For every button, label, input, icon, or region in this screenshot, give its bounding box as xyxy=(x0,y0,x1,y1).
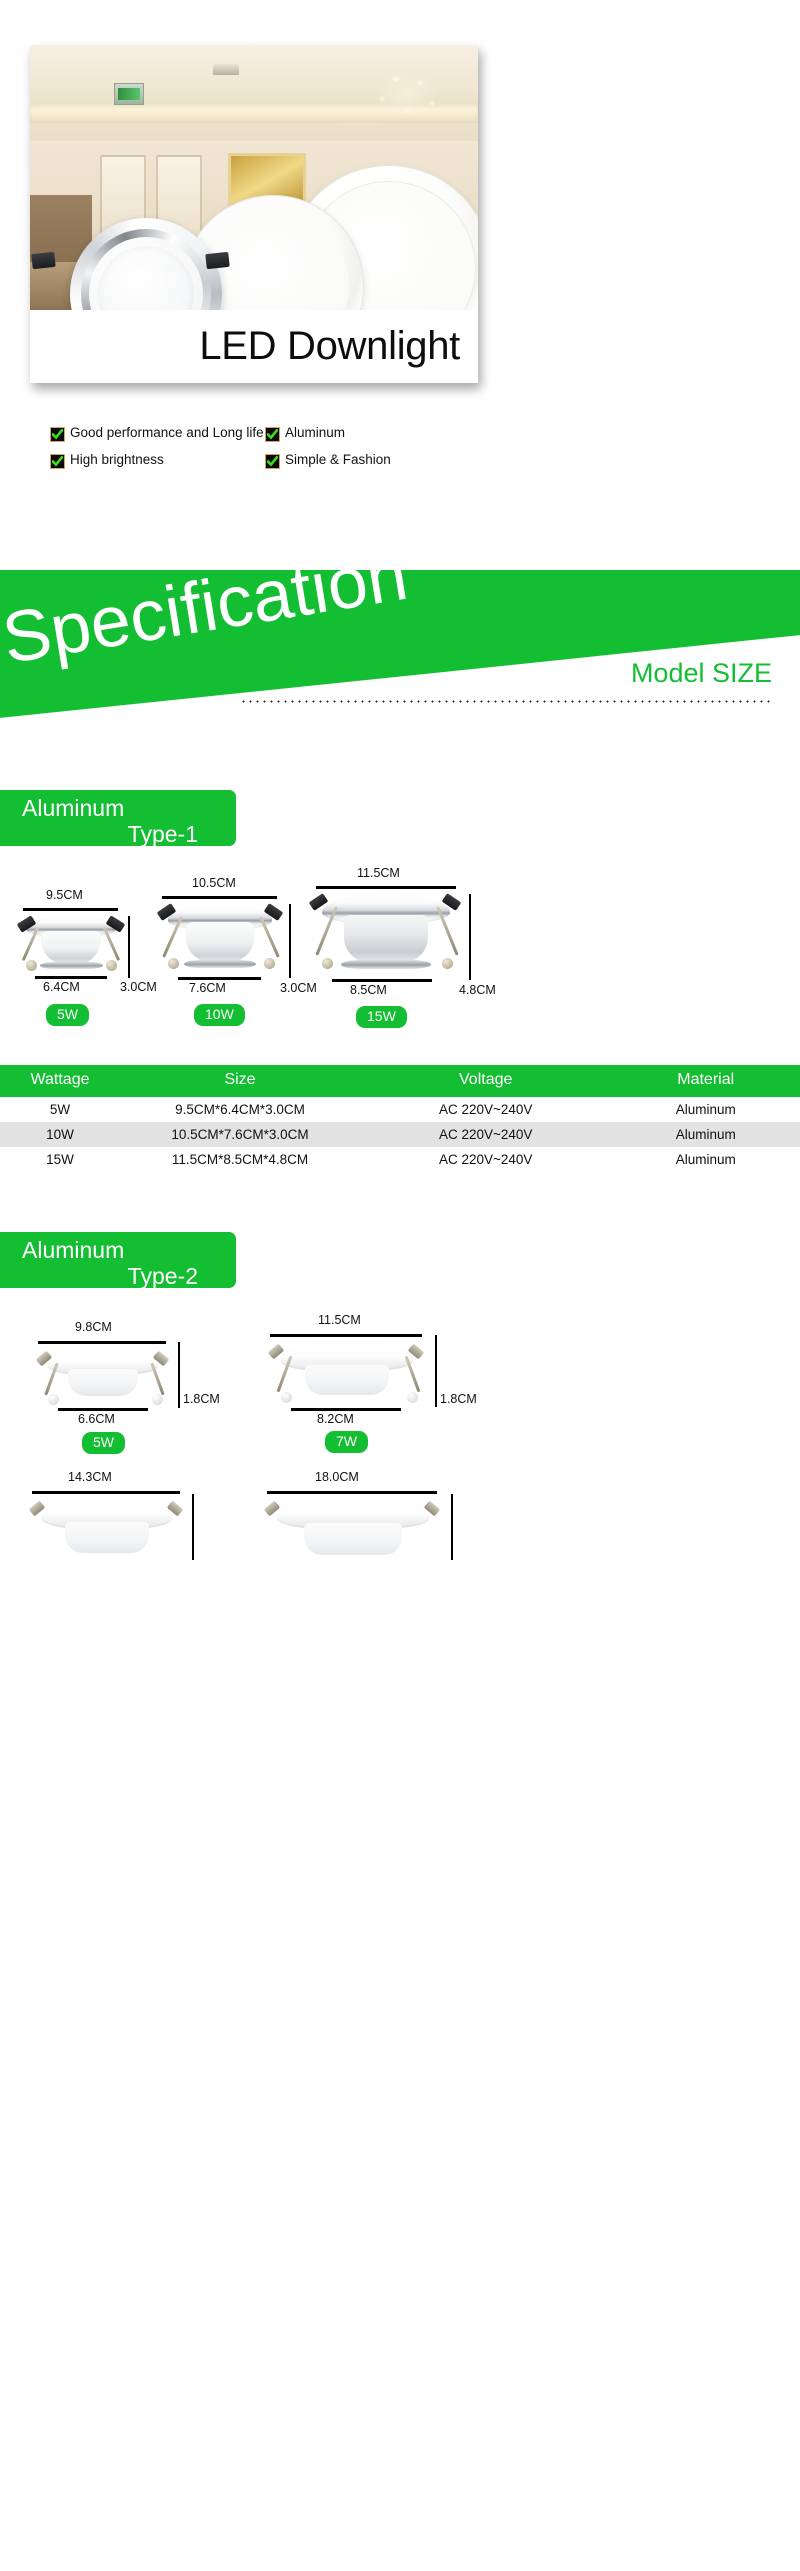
table-header-row: Wattage Size Voltage Material xyxy=(0,1065,800,1097)
dim-width-label: 14.3CM xyxy=(68,1470,112,1484)
type1-diagram-5w: 9.5CM 6.4CM 3.0CM 5W xyxy=(8,888,148,1038)
dim-height-label: 1.8CM xyxy=(440,1392,477,1406)
chrome-lip xyxy=(184,960,257,968)
downlight-drawing xyxy=(168,904,272,974)
wattage-badge: 15W xyxy=(356,1006,407,1028)
cell-size: 10.5CM*7.6CM*3.0CM xyxy=(120,1122,360,1147)
table-row: 10W 10.5CM*7.6CM*3.0CM AC 220V~240V Alum… xyxy=(0,1122,800,1147)
dim-width-label: 9.5CM xyxy=(46,888,83,902)
dim-depth-line xyxy=(178,977,261,980)
spring-clip-icon xyxy=(31,252,55,269)
feature-label: Simple & Fashion xyxy=(285,452,391,468)
cell-material: Aluminum xyxy=(611,1122,800,1147)
dim-width-label: 9.8CM xyxy=(75,1320,112,1334)
cell-voltage: AC 220V~240V xyxy=(360,1122,611,1147)
badge-line-1: Aluminum xyxy=(22,1237,226,1263)
spring-clip-icon xyxy=(205,252,229,269)
exit-sign-icon xyxy=(114,83,144,105)
dim-width-label: 11.5CM xyxy=(357,866,400,880)
chandelier-icon xyxy=(362,59,452,143)
hero-banner: LED Downlight xyxy=(30,45,478,383)
dim-width-line xyxy=(162,896,277,899)
dim-depth-line xyxy=(291,1408,401,1411)
dim-height-line xyxy=(178,1342,180,1408)
feature-item: High brightness xyxy=(50,452,265,469)
dim-width-line xyxy=(267,1491,437,1494)
dim-width-label: 11.5CM xyxy=(318,1313,361,1327)
chrome-lip xyxy=(341,960,431,970)
cell-material: Aluminum xyxy=(611,1097,800,1122)
dim-height-line xyxy=(451,1494,453,1560)
dim-depth-label: 7.6CM xyxy=(189,981,226,995)
dim-width-line xyxy=(316,886,456,889)
feature-list: Good performance and Long life Aluminum … xyxy=(50,425,470,469)
downlight-slim-drawing xyxy=(48,1350,158,1404)
chrome-lip xyxy=(40,962,103,969)
housing-base xyxy=(305,1365,389,1395)
badge-line-2: Type-1 xyxy=(22,821,226,847)
dim-depth-line xyxy=(58,1408,148,1411)
cell-size: 11.5CM*8.5CM*4.8CM xyxy=(120,1147,360,1172)
dim-width-line xyxy=(32,1491,180,1494)
feature-label: High brightness xyxy=(70,452,164,468)
hero-title-bar: LED Downlight xyxy=(30,310,478,383)
housing-body xyxy=(344,915,428,963)
spring-pivot xyxy=(106,960,117,971)
type1-diagram-15w: 11.5CM 8.5CM 4.8CM 15W xyxy=(302,866,482,1041)
table-row: 5W 9.5CM*6.4CM*3.0CM AC 220V~240V Alumin… xyxy=(0,1097,800,1122)
housing-base xyxy=(68,1369,138,1396)
wattage-badge: 5W xyxy=(46,1004,89,1026)
housing-base xyxy=(65,1522,148,1553)
check-icon xyxy=(265,427,280,442)
housing-body xyxy=(41,931,100,965)
badge-line-2: Type-2 xyxy=(22,1263,226,1289)
table-row: 15W 11.5CM*8.5CM*4.8CM AC 220V~240V Alum… xyxy=(0,1147,800,1172)
spring-pivot xyxy=(152,1394,163,1405)
type1-diagram-10w: 10.5CM 7.6CM 3.0CM 10W xyxy=(152,876,312,1038)
dim-width-line xyxy=(38,1341,166,1344)
dotted-divider xyxy=(240,700,770,703)
dim-depth-line xyxy=(35,976,107,979)
column-header-voltage: Voltage xyxy=(360,1065,611,1097)
spring-pivot xyxy=(168,958,179,969)
type2-diagram-row2-right: 18.0CM xyxy=(255,1470,485,1575)
spring-pivot xyxy=(407,1392,418,1403)
downlight-slim-drawing xyxy=(281,1343,413,1403)
cell-wattage: 10W xyxy=(0,1122,120,1147)
dim-height-line xyxy=(192,1494,194,1560)
spring-pivot xyxy=(48,1394,59,1405)
specification-banner: Specification Model SIZE xyxy=(0,570,800,720)
dim-depth-label: 6.6CM xyxy=(78,1412,115,1426)
downlight-drawing xyxy=(26,916,116,974)
housing-base xyxy=(304,1523,401,1555)
cell-wattage: 5W xyxy=(0,1097,120,1122)
cell-size: 9.5CM*6.4CM*3.0CM xyxy=(120,1097,360,1122)
spring-pivot xyxy=(442,958,453,969)
dim-height-line xyxy=(128,916,130,978)
dim-height-label: 4.8CM xyxy=(459,983,496,997)
dim-depth-label: 8.5CM xyxy=(350,983,387,997)
dim-height-line xyxy=(289,904,291,978)
feature-label: Aluminum xyxy=(285,425,345,441)
spring-pivot xyxy=(264,958,275,969)
specification-table: Wattage Size Voltage Material 5W 9.5CM*6… xyxy=(0,1065,800,1172)
spring-pivot xyxy=(322,958,333,969)
cell-voltage: AC 220V~240V xyxy=(360,1097,611,1122)
cell-material: Aluminum xyxy=(611,1147,800,1172)
wattage-badge: 7W xyxy=(325,1431,368,1453)
aluminum-type1-badge: Aluminum Type-1 xyxy=(0,790,236,846)
hero-card: LED Downlight xyxy=(30,45,478,383)
page-title: LED Downlight xyxy=(199,324,460,369)
check-icon xyxy=(50,454,65,469)
badge-line-1: Aluminum xyxy=(22,795,226,821)
feature-label: Good performance and Long life xyxy=(70,425,264,441)
column-header-wattage: Wattage xyxy=(0,1065,120,1097)
interior-room-photo xyxy=(30,45,478,310)
type2-diagram-7w: 11.5CM 8.2CM 1.8CM 7W xyxy=(255,1313,485,1455)
dim-width-line xyxy=(270,1334,422,1337)
dim-depth-label: 6.4CM xyxy=(43,980,80,994)
downlight-drawing xyxy=(322,894,450,976)
type2-diagram-5w: 9.8CM 6.6CM 1.8CM 5W xyxy=(20,1320,235,1455)
downlight-slim-drawing xyxy=(277,1500,429,1564)
type2-diagram-row2-left: 14.3CM xyxy=(20,1470,235,1575)
column-header-size: Size xyxy=(120,1065,360,1097)
housing-body xyxy=(186,922,255,963)
wattage-badge: 5W xyxy=(82,1432,125,1454)
dim-width-label: 18.0CM xyxy=(315,1470,359,1484)
cell-wattage: 15W xyxy=(0,1147,120,1172)
dim-height-line xyxy=(469,894,471,980)
check-icon xyxy=(265,454,280,469)
column-header-material: Material xyxy=(611,1065,800,1097)
dim-width-label: 10.5CM xyxy=(192,876,236,890)
model-size-subheading: Model SIZE xyxy=(631,658,772,689)
feature-item: Simple & Fashion xyxy=(265,452,470,469)
spring-pivot xyxy=(281,1392,292,1403)
dim-depth-line xyxy=(332,979,432,982)
spring-pivot xyxy=(26,960,37,971)
aluminum-type2-badge: Aluminum Type-2 xyxy=(0,1232,236,1288)
recessed-fixture-icon xyxy=(213,64,239,75)
wattage-badge: 10W xyxy=(194,1004,245,1026)
dim-width-line xyxy=(23,908,118,911)
feature-item: Aluminum xyxy=(265,425,470,442)
check-icon xyxy=(50,427,65,442)
dim-height-label: 1.8CM xyxy=(183,1392,220,1406)
cell-voltage: AC 220V~240V xyxy=(360,1147,611,1172)
dim-depth-label: 8.2CM xyxy=(317,1412,354,1426)
feature-item: Good performance and Long life xyxy=(50,425,265,442)
downlight-slim-drawing xyxy=(42,1500,172,1562)
dim-height-line xyxy=(435,1335,437,1407)
